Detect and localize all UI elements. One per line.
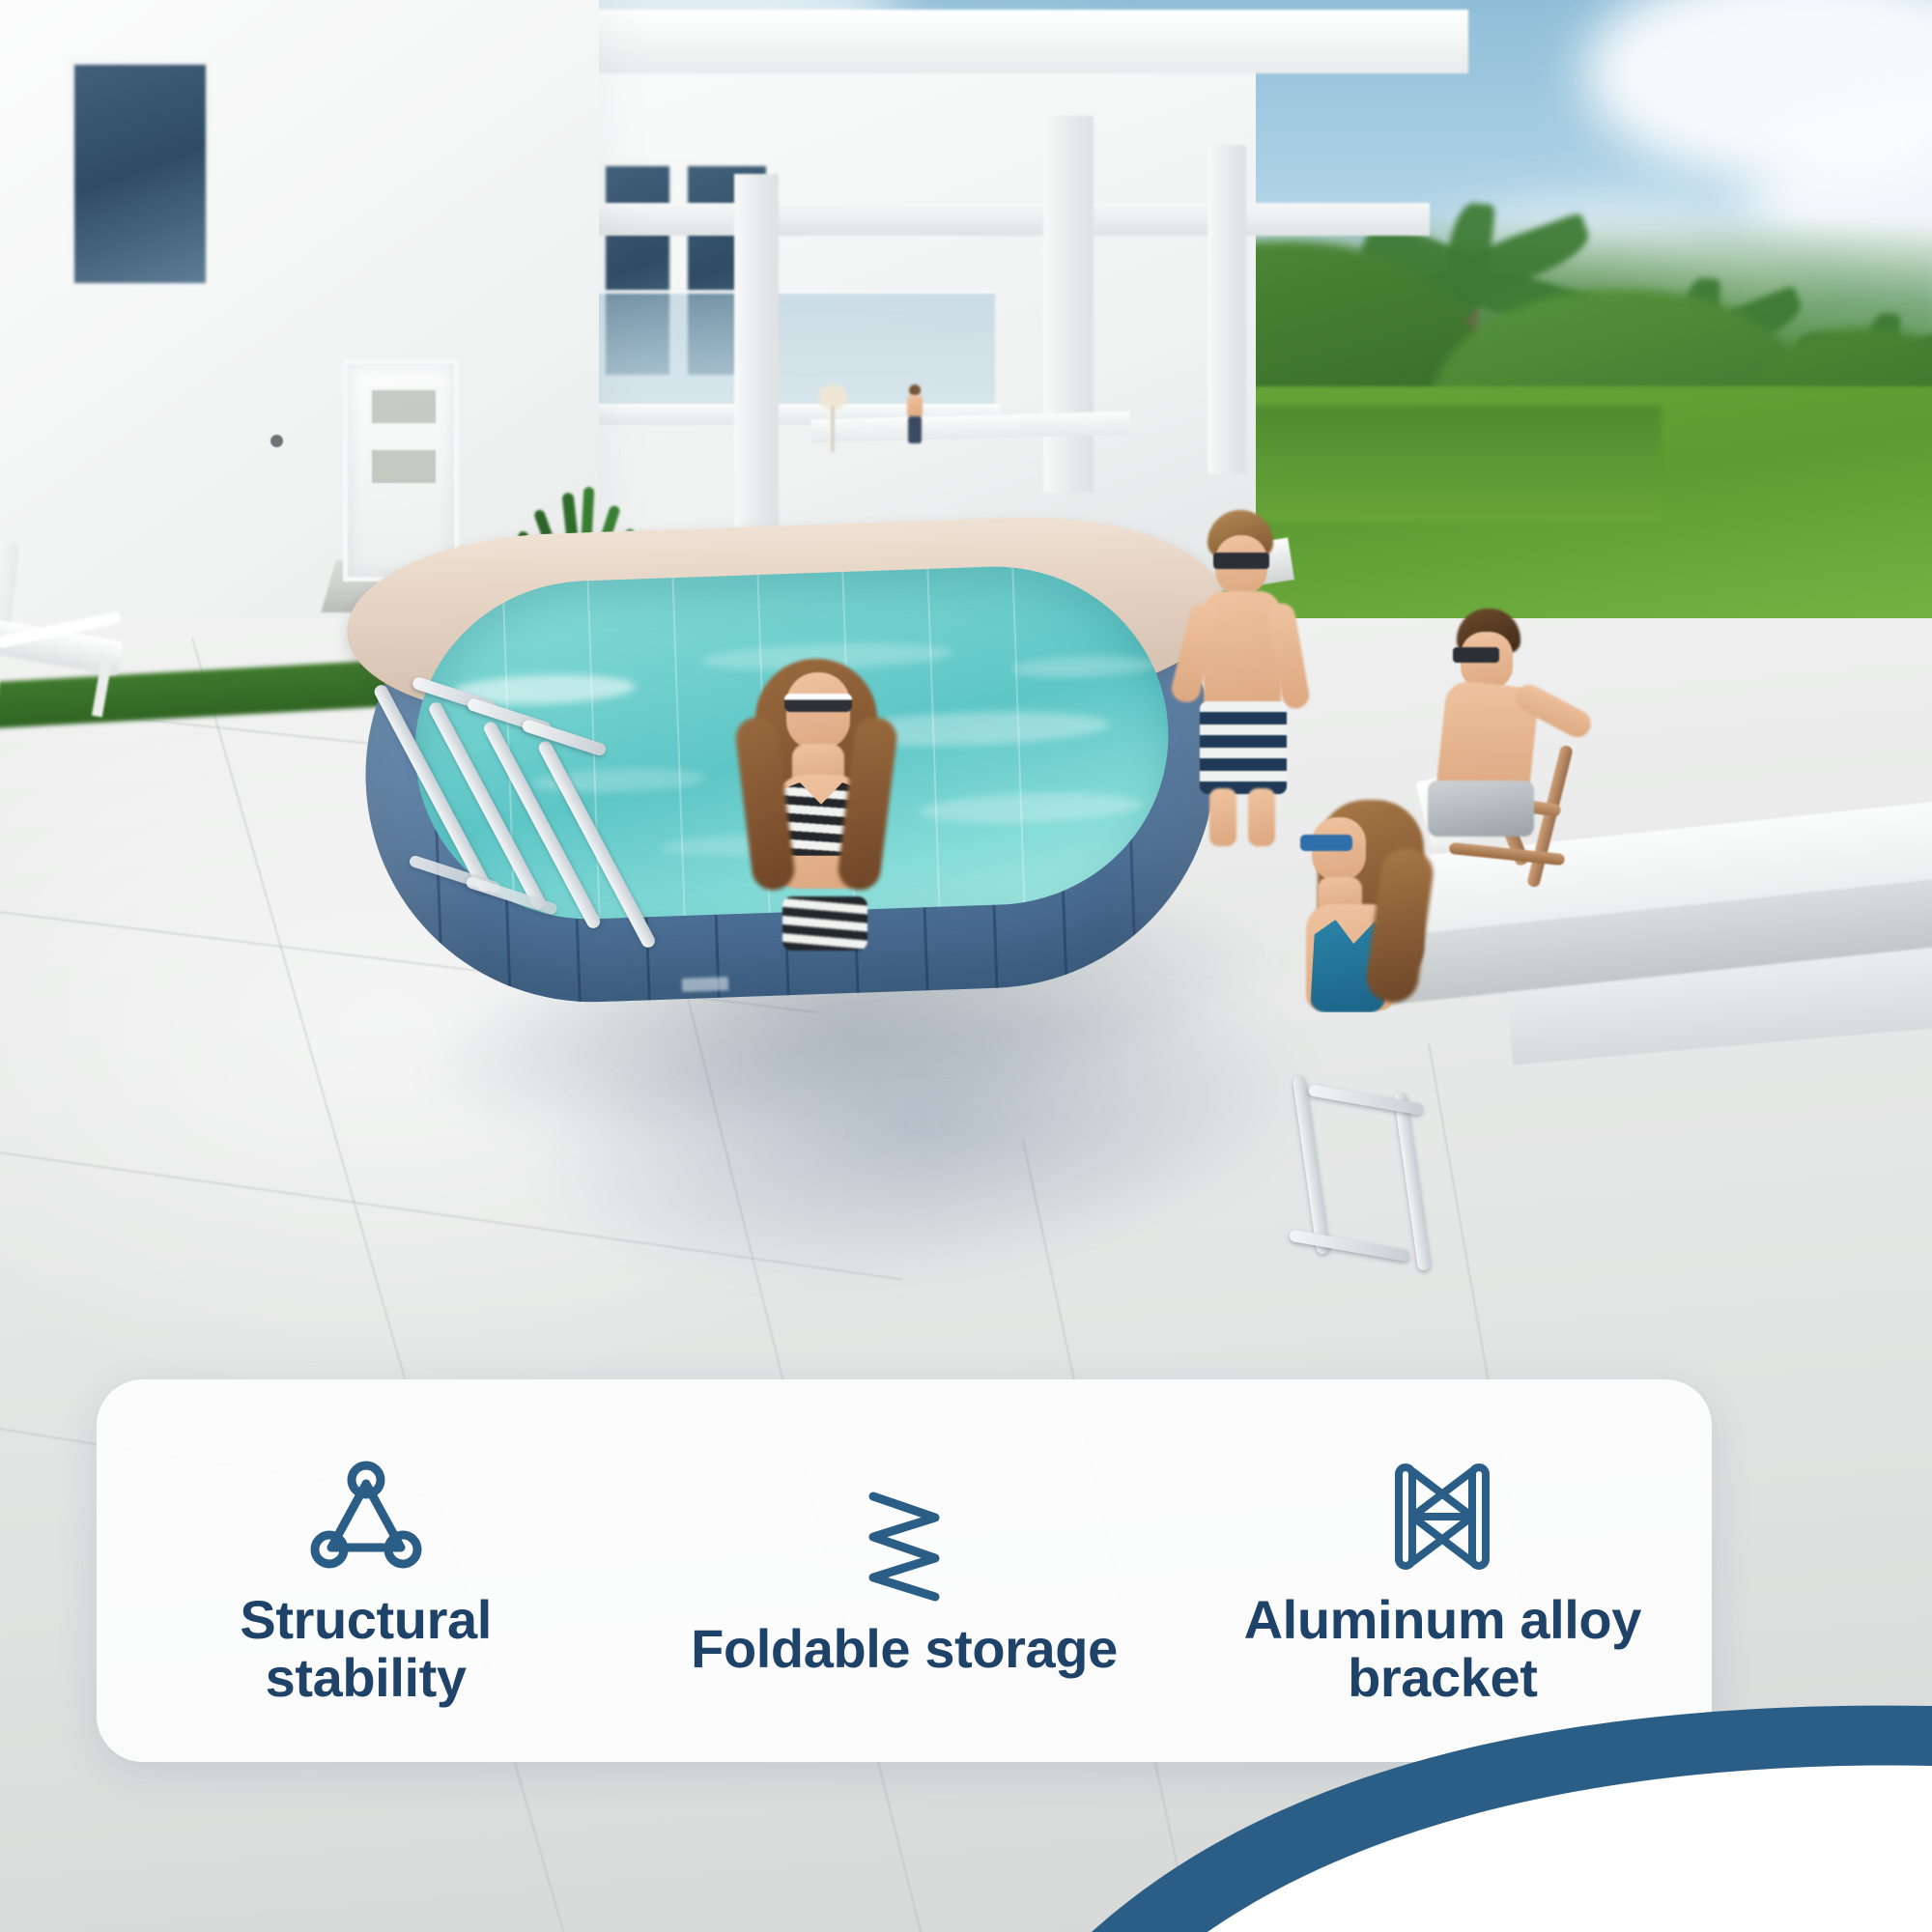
wall-light xyxy=(270,435,283,447)
man-standing xyxy=(1179,510,1304,838)
pool-brand-mark xyxy=(682,977,728,992)
bracket-truss-icon xyxy=(1381,1456,1503,1577)
feature-card: Structural stability Foldable storage xyxy=(97,1379,1712,1762)
entry-door xyxy=(343,359,459,582)
striped-swim-shorts xyxy=(1200,701,1287,794)
accordion-fold-icon xyxy=(852,1485,956,1606)
product-banner: Structural stability Foldable storage xyxy=(0,0,1932,1932)
balcony-glass xyxy=(580,290,995,406)
girl-in-pool xyxy=(1285,800,1439,1032)
feature-aluminum-alloy-bracket[interactable]: Aluminum alloy bracket xyxy=(1191,1435,1693,1708)
triangle-nodes-icon xyxy=(306,1456,426,1577)
grey-shorts xyxy=(1428,781,1534,837)
lawn-lamp xyxy=(816,384,849,452)
feature-label: Foldable storage xyxy=(691,1620,1118,1678)
man-seated xyxy=(1420,609,1613,850)
white-lounge-chair xyxy=(0,541,155,724)
feature-foldable-storage[interactable]: Foldable storage xyxy=(653,1463,1155,1678)
feature-label: Aluminum alloy bracket xyxy=(1244,1591,1641,1708)
window xyxy=(68,58,213,290)
feature-structural-stability[interactable]: Structural stability xyxy=(115,1435,617,1708)
pool-ladder-left xyxy=(393,671,693,971)
pillar xyxy=(1207,145,1246,473)
roof-slab xyxy=(541,10,1468,73)
distant-figure xyxy=(903,384,926,444)
feature-label: Structural stability xyxy=(240,1591,492,1708)
woman-in-pool xyxy=(734,659,908,978)
eave xyxy=(580,203,1430,236)
striped-bikini-bottom xyxy=(782,896,867,951)
